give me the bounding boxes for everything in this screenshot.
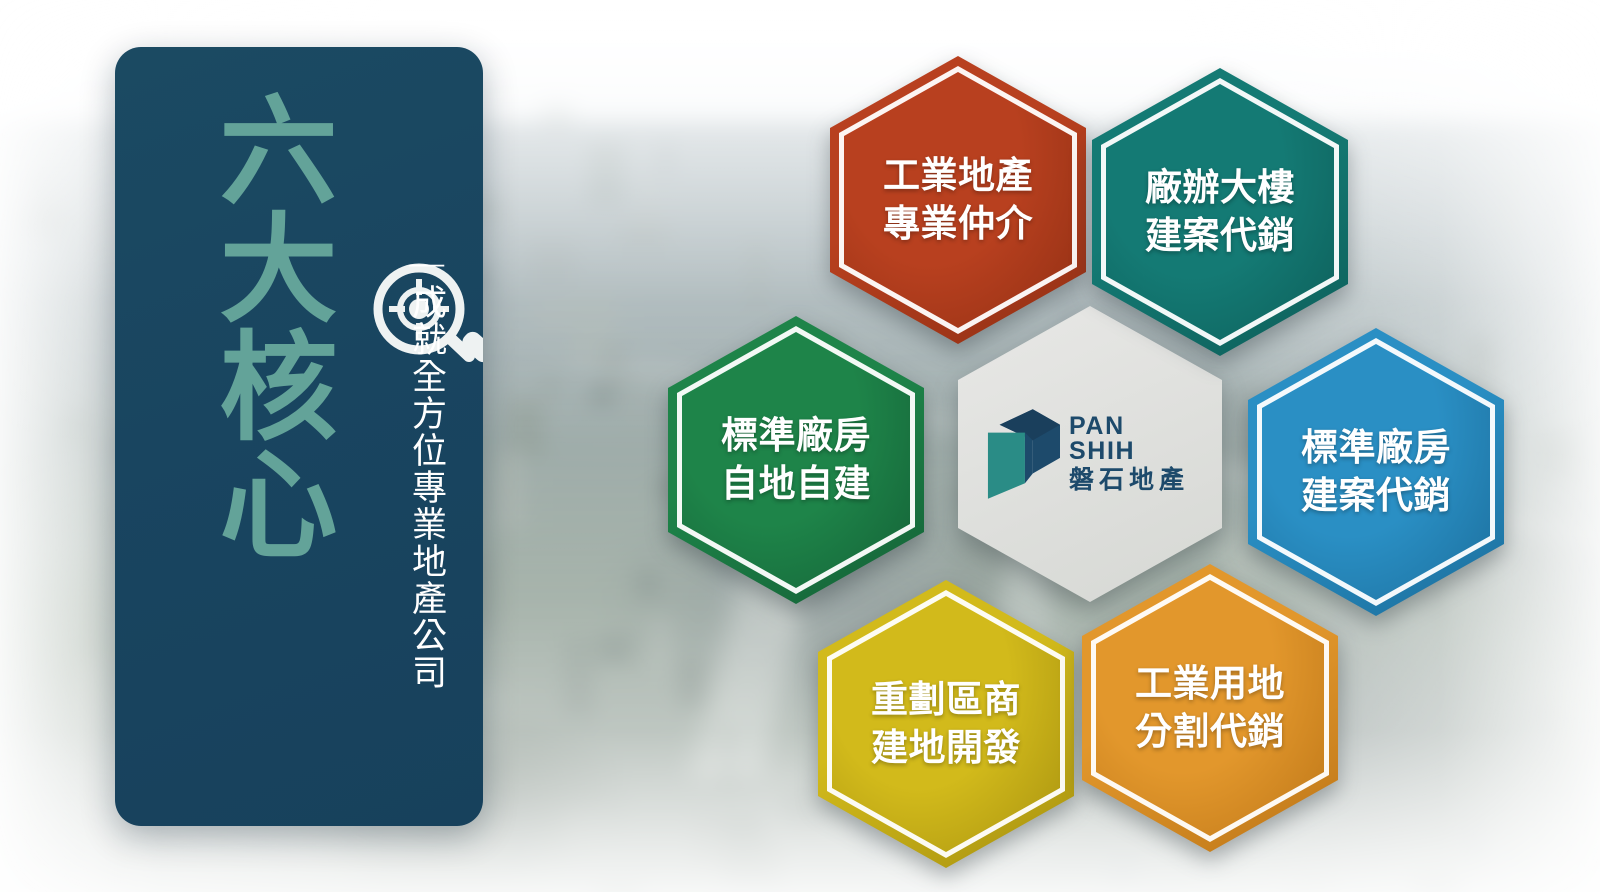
hexagon-label-line2: 建案代銷 xyxy=(1301,472,1451,520)
headline-panel: 六大核心 —成就全方位專業地產公司 xyxy=(115,47,483,826)
hexagon-label: 標準廠房自地自建 xyxy=(721,412,871,508)
hexagon-label-line2: 建地開發 xyxy=(871,724,1021,772)
hexagon-rezoning-land-development[interactable]: 重劃區商建地開發 xyxy=(818,580,1074,868)
page-title: 六大核心 xyxy=(167,89,327,779)
hexagon-label-line1: 標準廠房 xyxy=(721,412,871,460)
hexagon-factory-office-agency[interactable]: 廠辦大樓建案代銷 xyxy=(1092,68,1348,356)
hexagon-label-line2: 專業仲介 xyxy=(883,200,1033,248)
hexagon-label: 標準廠房建案代銷 xyxy=(1301,424,1451,520)
hexagon-cluster: PAN SHIH 磐石地產 工業地產專業仲介廠辦大樓建案代銷標準廠房自地自建標準… xyxy=(640,40,1540,860)
hexagon-label-line1: 工業地產 xyxy=(883,152,1033,200)
hexagon-label-line1: 工業用地 xyxy=(1135,660,1285,708)
hexagon-label: 廠辦大樓建案代銷 xyxy=(1145,164,1295,260)
brand-logo: PAN SHIH 磐石地產 xyxy=(986,402,1196,506)
hexagon-industrial-land-parceling[interactable]: 工業用地分割代銷 xyxy=(1082,564,1338,852)
hexagon-label-line2: 分割代銷 xyxy=(1135,708,1285,756)
brand-name-en: PAN SHIH xyxy=(1069,414,1196,464)
hexagon-label-line1: 標準廠房 xyxy=(1301,424,1451,472)
hexagon-label: 工業用地分割代銷 xyxy=(1135,660,1285,756)
hexagon-label: 重劃區商建地開發 xyxy=(871,676,1021,772)
hexagon-label-line2: 自地自建 xyxy=(721,460,871,508)
hexagon-label: 工業地產專業仲介 xyxy=(883,152,1033,248)
pan-shih-p-mark-icon xyxy=(986,406,1060,502)
hexagon-standard-factory-selfbuild[interactable]: 標準廠房自地自建 xyxy=(668,316,924,604)
brand-name-zh: 磐石地產 xyxy=(1069,467,1196,495)
page-subtitle: —成就全方位專業地產公司 xyxy=(402,243,449,826)
hexagon-industrial-brokerage[interactable]: 工業地產專業仲介 xyxy=(830,56,1086,344)
hexagon-label-line1: 廠辦大樓 xyxy=(1145,164,1295,212)
hexagon-label-line2: 建案代銷 xyxy=(1145,212,1295,260)
hexagon-label-line1: 重劃區商 xyxy=(871,676,1021,724)
